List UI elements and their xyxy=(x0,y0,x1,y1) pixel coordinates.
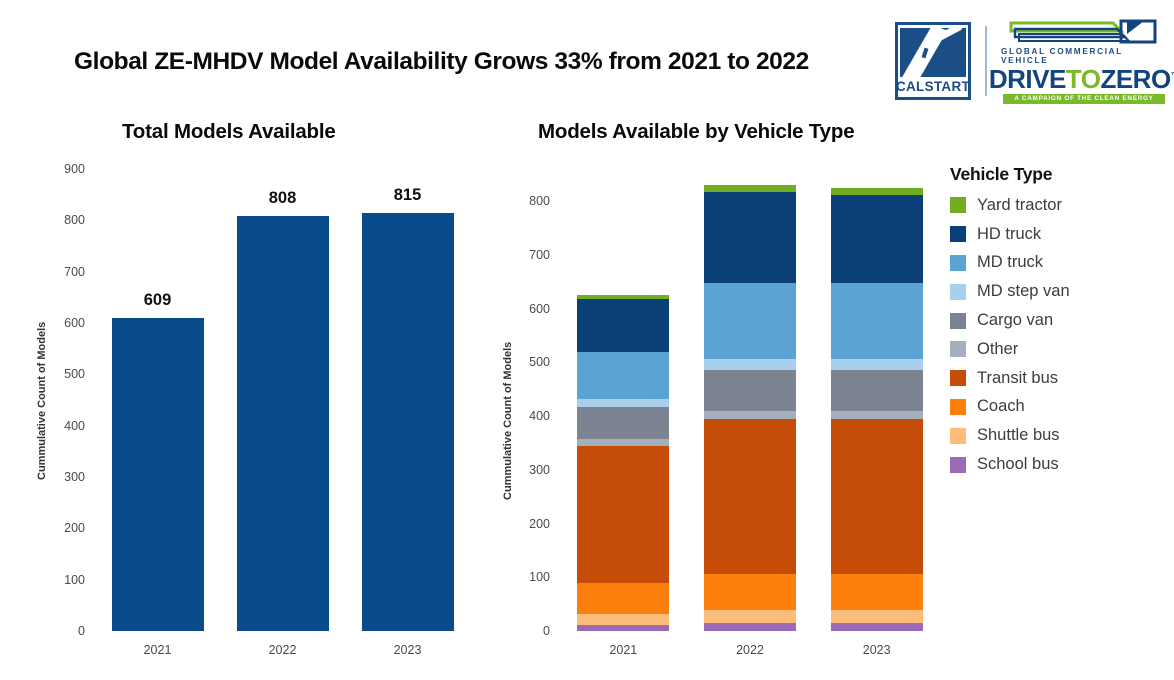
chart-title-total-models: Total Models Available xyxy=(122,120,336,144)
x-tick-label: 2022 xyxy=(687,643,814,657)
y-tick-label: 600 xyxy=(505,302,550,316)
legend-item[interactable]: Shuttle bus xyxy=(950,421,1170,450)
legend-swatch-icon xyxy=(950,428,966,444)
x-tick-label: 2021 xyxy=(95,643,220,657)
stack-segment-md-step-van[interactable] xyxy=(704,359,796,371)
calstart-wordmark: CALSTART xyxy=(896,79,970,94)
stack-segment-other[interactable] xyxy=(577,439,669,445)
y-tick-label: 200 xyxy=(40,521,85,535)
legend-item[interactable]: Yard tractor xyxy=(950,191,1170,220)
y-tick-label: 600 xyxy=(40,316,85,330)
stack-segment-coach[interactable] xyxy=(704,574,796,611)
y-tick-label: 0 xyxy=(40,624,85,638)
y-tick-label: 200 xyxy=(505,517,550,531)
legend-item[interactable]: Transit bus xyxy=(950,364,1170,393)
legend-label: Other xyxy=(977,340,1018,359)
stack-segment-transit-bus[interactable] xyxy=(577,446,669,583)
y-tick-label: 400 xyxy=(505,409,550,423)
stack-segment-shuttle-bus[interactable] xyxy=(577,614,669,625)
legend-label: Yard tractor xyxy=(977,196,1062,215)
legend-swatch-icon xyxy=(950,370,966,386)
stack-segment-hd-truck[interactable] xyxy=(704,192,796,283)
stack-segment-md-truck[interactable] xyxy=(704,283,796,358)
legend-label: Transit bus xyxy=(977,369,1058,388)
stack-segment-md-step-van[interactable] xyxy=(577,399,669,407)
x-tick-label: 2023 xyxy=(345,643,470,657)
logo-divider xyxy=(985,26,987,96)
stack-segment-cargo-van[interactable] xyxy=(831,370,923,410)
legend-item[interactable]: Cargo van xyxy=(950,306,1170,335)
legend-label: Coach xyxy=(977,397,1025,416)
stack-segment-school-bus[interactable] xyxy=(831,623,923,631)
x-tick-label: 2022 xyxy=(220,643,345,657)
legend-label: School bus xyxy=(977,455,1059,474)
legend-swatch-icon xyxy=(950,399,966,415)
page-title: Global ZE-MHDV Model Availability Grows … xyxy=(74,48,884,76)
x-tick-label: 2021 xyxy=(560,643,687,657)
legend-label: HD truck xyxy=(977,225,1041,244)
legend-item[interactable]: School bus xyxy=(950,450,1170,479)
stack-segment-yard-tractor[interactable] xyxy=(831,188,923,195)
stack-segment-school-bus[interactable] xyxy=(577,625,669,631)
logo-block: CALSTART GLOBAL COMMERCIAL VEHICLE DRIVE… xyxy=(895,20,1167,102)
stack-segment-other[interactable] xyxy=(831,411,923,419)
legend-label: Cargo van xyxy=(977,311,1053,330)
calstart-logo: CALSTART xyxy=(895,22,971,100)
stack-segment-shuttle-bus[interactable] xyxy=(831,610,923,623)
y-tick-label: 500 xyxy=(40,367,85,381)
legend-title: Vehicle Type xyxy=(950,164,1170,185)
chart1-plot-area xyxy=(95,169,470,631)
stacked-bar-2022[interactable] xyxy=(704,185,796,631)
stack-segment-yard-tractor[interactable] xyxy=(577,295,669,299)
truck-icon xyxy=(1009,18,1159,44)
stacked-bar-2023[interactable] xyxy=(831,188,923,631)
stack-segment-hd-truck[interactable] xyxy=(831,195,923,284)
stack-segment-md-step-van[interactable] xyxy=(831,359,923,371)
legend-swatch-icon xyxy=(950,341,966,357)
stack-segment-school-bus[interactable] xyxy=(704,623,796,631)
y-tick-label: 100 xyxy=(40,573,85,587)
chart1-y-axis-ticks: 0100200300400500600700800900 xyxy=(40,0,85,680)
drive-to-zero-logo: GLOBAL COMMERCIAL VEHICLE DRIVETOZERO™ A… xyxy=(1001,18,1167,104)
drive-to-zero-superline: GLOBAL COMMERCIAL VEHICLE xyxy=(1001,47,1167,65)
legend-item[interactable]: HD truck xyxy=(950,220,1170,249)
y-tick-label: 800 xyxy=(40,213,85,227)
y-tick-label: 700 xyxy=(505,248,550,262)
legend-items: Yard tractorHD truckMD truckMD step vanC… xyxy=(950,191,1170,479)
dtz-word-zero: ZERO xyxy=(1100,64,1170,94)
bar-2021[interactable] xyxy=(112,318,204,631)
stack-segment-cargo-van[interactable] xyxy=(704,370,796,410)
legend-swatch-icon xyxy=(950,226,966,242)
dtz-word-to: TO xyxy=(1066,64,1101,94)
drive-to-zero-tagline: A CAMPAIGN OF THE CLEAN ENERGY MINISTERI… xyxy=(1003,94,1165,104)
calstart-road-icon xyxy=(900,28,966,77)
y-tick-label: 700 xyxy=(40,265,85,279)
bar-value-label: 808 xyxy=(237,189,329,208)
y-tick-label: 400 xyxy=(40,419,85,433)
legend-label: Shuttle bus xyxy=(977,426,1060,445)
y-tick-label: 300 xyxy=(505,463,550,477)
stack-segment-coach[interactable] xyxy=(577,583,669,614)
legend-item[interactable]: Coach xyxy=(950,393,1170,422)
legend-swatch-icon xyxy=(950,313,966,329)
legend-label: MD truck xyxy=(977,253,1043,272)
stack-segment-md-truck[interactable] xyxy=(577,352,669,399)
legend-swatch-icon xyxy=(950,197,966,213)
stacked-bar-2021[interactable] xyxy=(577,295,669,631)
stack-segment-coach[interactable] xyxy=(831,574,923,611)
legend-item[interactable]: MD step van xyxy=(950,277,1170,306)
y-tick-label: 800 xyxy=(505,194,550,208)
stack-segment-cargo-van[interactable] xyxy=(577,407,669,439)
chart2-y-axis-ticks: 0100200300400500600700800 xyxy=(505,0,550,680)
legend-item[interactable]: Other xyxy=(950,335,1170,364)
bar-2023[interactable] xyxy=(362,213,454,631)
y-tick-label: 300 xyxy=(40,470,85,484)
y-tick-label: 0 xyxy=(505,624,550,638)
legend-label: MD step van xyxy=(977,282,1070,301)
chart-title-by-vehicle-type: Models Available by Vehicle Type xyxy=(538,120,854,144)
stack-segment-shuttle-bus[interactable] xyxy=(704,610,796,623)
drive-to-zero-wordmark: DRIVETOZERO™ xyxy=(989,66,1174,92)
stack-segment-yard-tractor[interactable] xyxy=(704,185,796,192)
stack-segment-md-truck[interactable] xyxy=(831,283,923,358)
y-tick-label: 900 xyxy=(40,162,85,176)
chart2-plot-area xyxy=(560,169,940,631)
legend-swatch-icon xyxy=(950,255,966,271)
stack-segment-other[interactable] xyxy=(704,411,796,419)
bar-value-label: 815 xyxy=(362,186,454,205)
legend-swatch-icon xyxy=(950,284,966,300)
y-tick-label: 500 xyxy=(505,355,550,369)
legend-item[interactable]: MD truck xyxy=(950,249,1170,278)
chart-page: Global ZE-MHDV Model Availability Grows … xyxy=(0,0,1174,680)
dtz-word-drive: DRIVE xyxy=(989,64,1066,94)
legend-swatch-icon xyxy=(950,457,966,473)
stack-segment-transit-bus[interactable] xyxy=(831,419,923,574)
bar-2022[interactable] xyxy=(237,216,329,631)
legend: Vehicle Type Yard tractorHD truckMD truc… xyxy=(950,164,1170,479)
stack-segment-transit-bus[interactable] xyxy=(704,419,796,574)
x-tick-label: 2023 xyxy=(813,643,940,657)
y-tick-label: 100 xyxy=(505,570,550,584)
stack-segment-hd-truck[interactable] xyxy=(577,299,669,352)
bar-value-label: 609 xyxy=(112,291,204,310)
